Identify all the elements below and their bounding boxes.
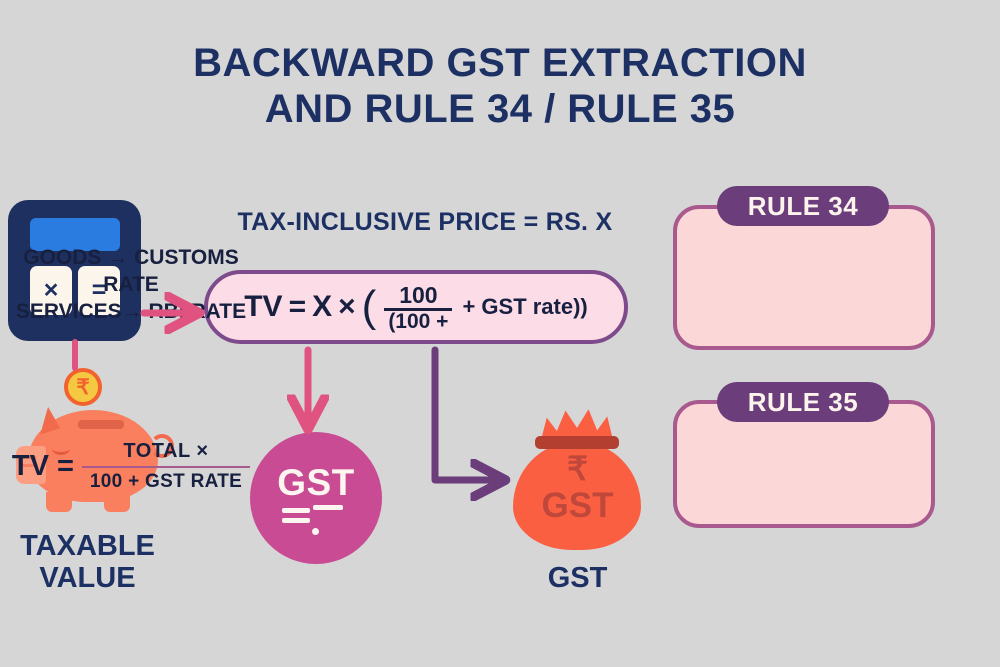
money-bag-icon: ₹ GST xyxy=(505,400,650,560)
piggy-coin-slot xyxy=(78,420,124,429)
gst-circle-badge: GST xyxy=(250,432,382,564)
rule-35-equals: = xyxy=(57,450,74,483)
gst-circle-dot xyxy=(312,528,319,535)
gst-circle-mark xyxy=(282,508,310,513)
rule-34-body: GOODS → CUSTOMS RATE SERVICES→ RBI RATE xyxy=(0,245,262,326)
rule-34-badge: RULE 34 xyxy=(717,186,889,226)
rule-34-line-2: SERVICES→ RBI RATE xyxy=(0,299,262,326)
piggy-leg xyxy=(104,492,130,512)
page-title: BACKWARD GST EXTRACTION AND RULE 34 / RU… xyxy=(0,40,1000,132)
formula-times: × xyxy=(338,290,356,324)
money-bag-gst-text: GST xyxy=(505,486,650,526)
title-line-1: BACKWARD GST EXTRACTION xyxy=(193,41,807,85)
rule-35-numerator: TOTAL × xyxy=(115,440,216,466)
formula-x: X xyxy=(312,290,332,324)
formula-fraction: 100 (100 + xyxy=(384,283,452,332)
taxable-value-label: TAXABLE VALUE xyxy=(0,530,175,595)
formula-numerator: 100 xyxy=(393,283,443,307)
money-bag-rupee-symbol: ₹ xyxy=(505,452,650,485)
rule-35-lhs: TV xyxy=(12,450,49,483)
rule-35-fraction: TOTAL × 100 + GST RATE xyxy=(82,440,250,493)
taxable-value-line-1: TAXABLE xyxy=(20,530,155,562)
gst-circle-mark xyxy=(313,505,343,510)
gst-label: GST xyxy=(485,562,670,595)
formula-equals: = xyxy=(289,290,307,324)
gst-circle-mark xyxy=(282,518,310,523)
title-line-2: AND RULE 34 / RULE 35 xyxy=(0,86,1000,132)
money-bag-tie xyxy=(535,436,619,449)
taxable-value-line-2: VALUE xyxy=(39,562,135,594)
formula-tail: + GST rate)) xyxy=(462,294,587,320)
rule-35-badge: RULE 35 xyxy=(717,382,889,422)
main-formula-expression: TV = X × ( 100 (100 + + GST rate)) xyxy=(244,282,588,331)
infographic-canvas: BACKWARD GST EXTRACTION AND RULE 34 / RU… xyxy=(0,0,1000,667)
rule-35-denominator: 100 + GST RATE xyxy=(82,466,250,493)
formula-open-paren: ( xyxy=(362,288,377,325)
formula-denominator: (100 + xyxy=(384,308,452,333)
main-formula-box: TV = X × ( 100 (100 + + GST rate)) xyxy=(204,270,628,344)
tax-inclusive-price-label: TAX-INCLUSIVE PRICE = RS. X xyxy=(190,208,660,237)
rule-35-formula: TV = TOTAL × 100 + GST RATE xyxy=(0,440,262,493)
rule-34-line-1: GOODS → CUSTOMS RATE xyxy=(0,245,262,299)
gst-circle-label: GST xyxy=(250,462,382,504)
rule-34-card xyxy=(673,205,935,350)
rupee-coin-icon: ₹ xyxy=(64,368,102,406)
arrow-formula-to-bag xyxy=(435,350,500,480)
piggy-leg xyxy=(46,492,72,512)
